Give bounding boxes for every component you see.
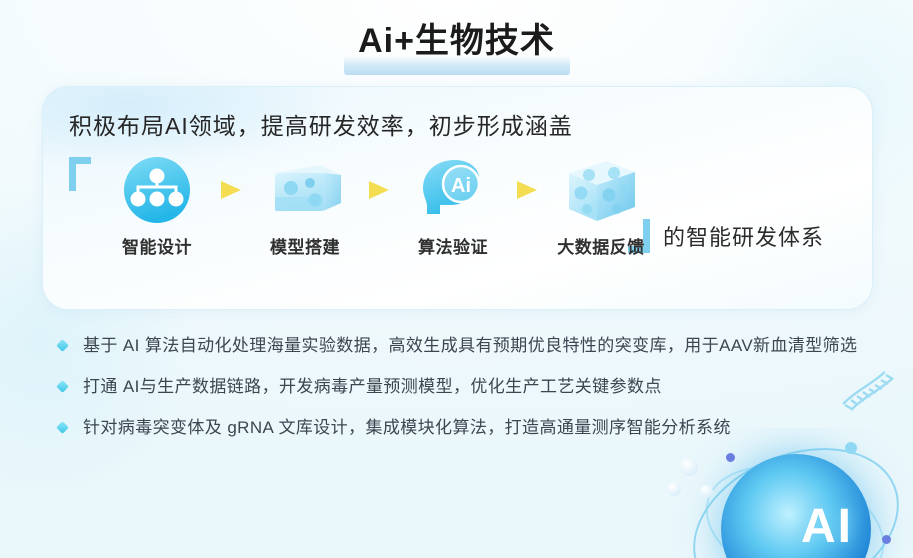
ai-head-icon: Ai: [395, 149, 511, 231]
ai-brain-artwork: AI: [663, 428, 913, 558]
diamond-bullet-icon: [56, 339, 69, 352]
ai-head-icon-text: Ai: [451, 175, 471, 197]
diamond-bullet-icon: [56, 380, 69, 393]
list-item-text: 基于 AI 算法自动化处理海量实验数据，高效生成具有预期优良特性的突变库，用于A…: [83, 332, 857, 360]
workflow-steps: 智能设计: [99, 149, 659, 279]
hierarchy-node-icon: [99, 149, 215, 231]
step-algorithm-validation: Ai 算法验证: [395, 149, 511, 258]
dna-helix-icon: [835, 360, 905, 420]
molecule-sphere: [680, 458, 698, 476]
step-model-building: 模型搭建: [247, 149, 363, 258]
list-item-text: 打通 AI与生产数据链路，开发病毒产量预测模型，优化生产工艺关键参数点: [83, 373, 662, 401]
ai-overview-card: 积极布局AI领域，提高研发效率，初步形成涵盖: [42, 86, 873, 310]
step-label: 模型搭建: [247, 233, 363, 258]
step-label: 大数据反馈: [543, 233, 659, 258]
bracket-open-icon: [69, 157, 91, 191]
arrow-right-icon: [215, 149, 247, 231]
page-title-area: Ai+生物技术: [0, 14, 913, 76]
step-label: 算法验证: [395, 233, 511, 258]
list-item: 基于 AI 算法自动化处理海量实验数据，高效生成具有预期优良特性的突变库，用于A…: [58, 332, 858, 360]
card-tail-text: 的智能研发体系: [663, 220, 824, 252]
list-item: 打通 AI与生产数据链路，开发病毒产量预测模型，优化生产工艺关键参数点: [58, 373, 858, 401]
step-big-data-feedback: 大数据反馈: [543, 149, 659, 258]
card-headline: 积极布局AI领域，提高研发效率，初步形成涵盖: [69, 107, 573, 141]
list-item-text: 针对病毒突变体及 gRNA 文库设计，集成模块化算法，打造高通量测序智能分析系统: [83, 414, 731, 442]
diamond-bullet-icon: [56, 421, 69, 434]
arrow-right-icon: [363, 149, 395, 231]
molecule-sphere: [845, 442, 857, 454]
step-label: 智能设计: [99, 233, 215, 258]
step-intelligent-design: 智能设计: [99, 149, 215, 258]
cube-model-icon: [247, 149, 363, 231]
page-title: Ai+生物技术: [0, 14, 913, 68]
molecule-sphere: [700, 485, 713, 498]
data-cube-icon: [543, 149, 659, 231]
arrow-right-icon: [511, 149, 543, 231]
molecule-sphere: [667, 482, 681, 496]
ai-artwork-label: AI: [801, 499, 853, 554]
molecule-sphere: [726, 453, 735, 462]
molecule-sphere: [882, 535, 891, 544]
